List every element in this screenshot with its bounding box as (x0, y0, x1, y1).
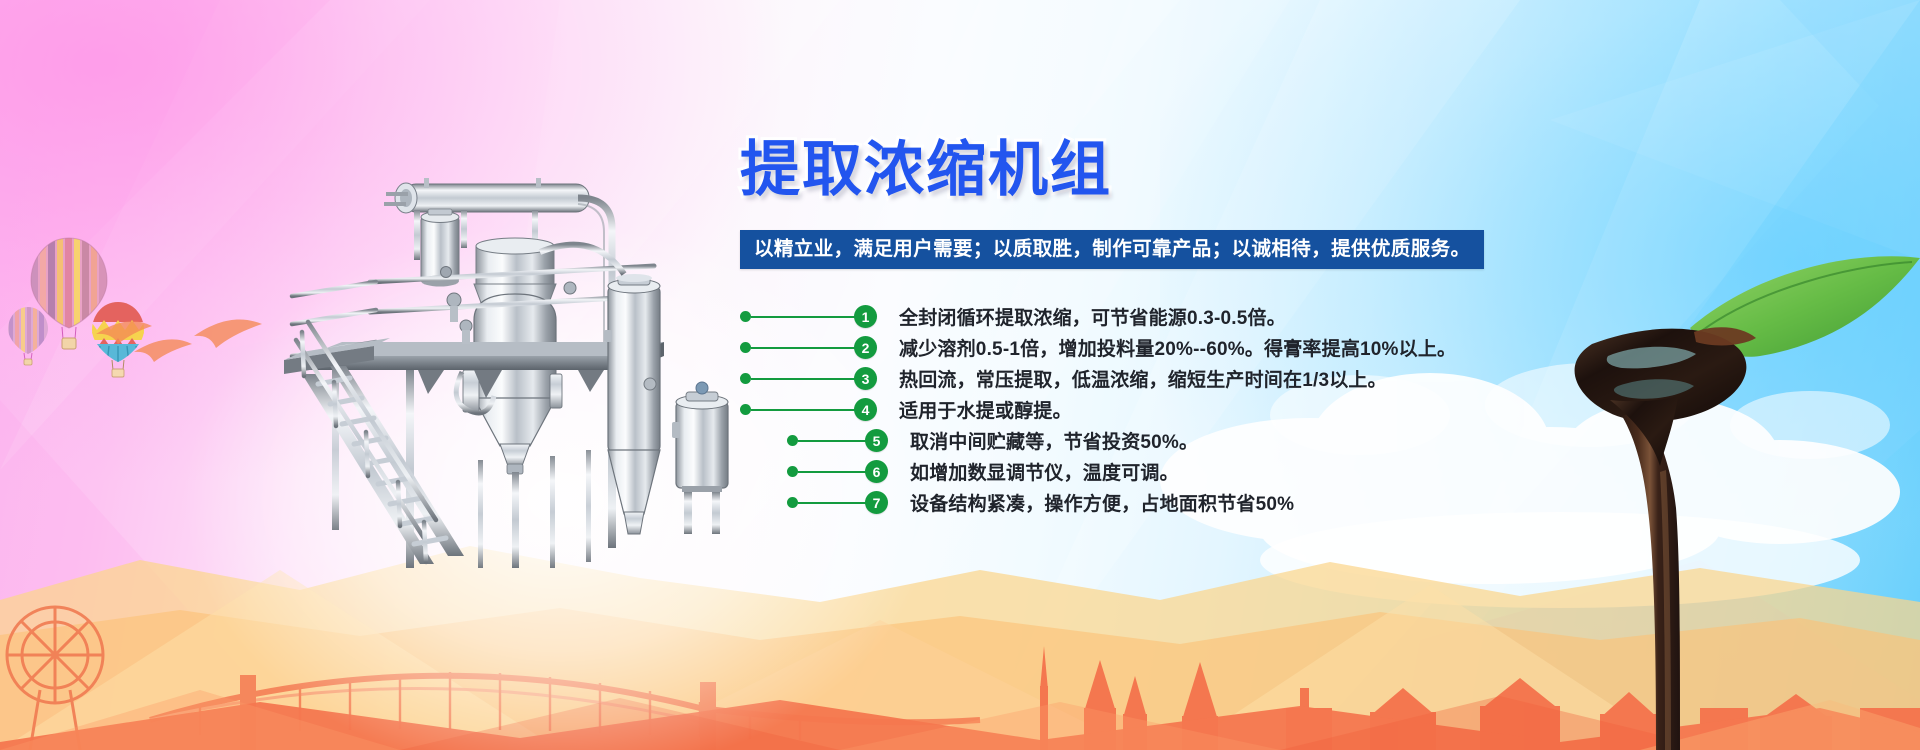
connector-dot (740, 311, 751, 322)
feature-number-badge: 2 (854, 336, 877, 359)
flying-birds-silhouette (90, 300, 280, 380)
connector-line (740, 310, 855, 324)
feature-number-badge: 3 (854, 367, 877, 390)
feature-text: 适用于水提或醇提。 (899, 396, 1072, 423)
connector-dot (740, 404, 751, 415)
slogan-bar: 以精立业，满足用户需要；以质取胜，制作可靠产品；以诚相待，提供优质服务。 (740, 230, 1484, 269)
banner-content: 提取浓缩机组 以精立业，满足用户需要；以质取胜，制作可靠产品；以诚相待，提供优质… (740, 140, 1620, 518)
connector-dot (787, 497, 798, 508)
connector-line (740, 403, 855, 417)
connector-dot (787, 466, 798, 477)
feature-list: 1 全封闭循环提取浓缩，可节省能源0.3-0.5倍。 2 减少溶剂0.5-1倍，… (740, 301, 1620, 518)
connector-stroke (798, 440, 866, 442)
connector-stroke (798, 471, 866, 473)
connector-dot (740, 373, 751, 384)
feature-text: 取消中间贮藏等，节省投资50%。 (910, 427, 1198, 454)
feature-number-badge: 5 (865, 429, 888, 452)
extraction-concentration-unit (278, 160, 748, 580)
connector-stroke (751, 316, 855, 318)
feature-item: 2 减少溶剂0.5-1倍，增加投料量20%--60%。得膏率提高10%以上。 (740, 332, 1620, 363)
connector-stroke (751, 347, 855, 349)
connector-line (740, 372, 855, 386)
connector-line (787, 496, 866, 510)
feature-number-badge: 7 (865, 491, 888, 514)
feature-text: 设备结构紧凑，操作方便，占地面积节省50% (910, 489, 1294, 516)
feature-item: 3 热回流，常压提取，低温浓缩，缩短生产时间在1/3以上。 (740, 363, 1620, 394)
connector-stroke (798, 502, 866, 504)
feature-text: 减少溶剂0.5-1倍，增加投料量20%--60%。得膏率提高10%以上。 (899, 334, 1456, 361)
hot-air-balloon-small (6, 305, 50, 367)
feature-item: 5 取消中间贮藏等，节省投资50%。 (740, 425, 1620, 456)
feature-number-badge: 1 (854, 305, 877, 328)
feature-number-badge: 4 (854, 398, 877, 421)
feature-text: 热回流，常压提取，低温浓缩，缩短生产时间在1/3以上。 (899, 365, 1387, 392)
feature-text: 全封闭循环提取浓缩，可节省能源0.3-0.5倍。 (899, 303, 1286, 330)
connector-dot (740, 342, 751, 353)
connector-stroke (751, 378, 855, 380)
feature-item: 6 如增加数显调节仪，温度可调。 (740, 456, 1620, 487)
connector-line (787, 434, 866, 448)
feature-item: 7 设备结构紧凑，操作方便，占地面积节省50% (740, 487, 1620, 518)
connector-dot (787, 435, 798, 446)
feature-item: 1 全封闭循环提取浓缩，可节省能源0.3-0.5倍。 (740, 301, 1620, 332)
feature-item: 4 适用于水提或醇提。 (740, 394, 1620, 425)
connector-line (787, 465, 866, 479)
page-title-wrap: 提取浓缩机组 (740, 140, 1620, 212)
feature-number-badge: 6 (865, 460, 888, 483)
feature-text: 如增加数显调节仪，温度可调。 (910, 458, 1179, 485)
connector-stroke (751, 409, 855, 411)
page-title: 提取浓缩机组 (740, 140, 1620, 200)
product-banner: 提取浓缩机组 以精立业，满足用户需要；以质取胜，制作可靠产品；以诚相待，提供优质… (0, 0, 1920, 750)
connector-line (740, 341, 855, 355)
